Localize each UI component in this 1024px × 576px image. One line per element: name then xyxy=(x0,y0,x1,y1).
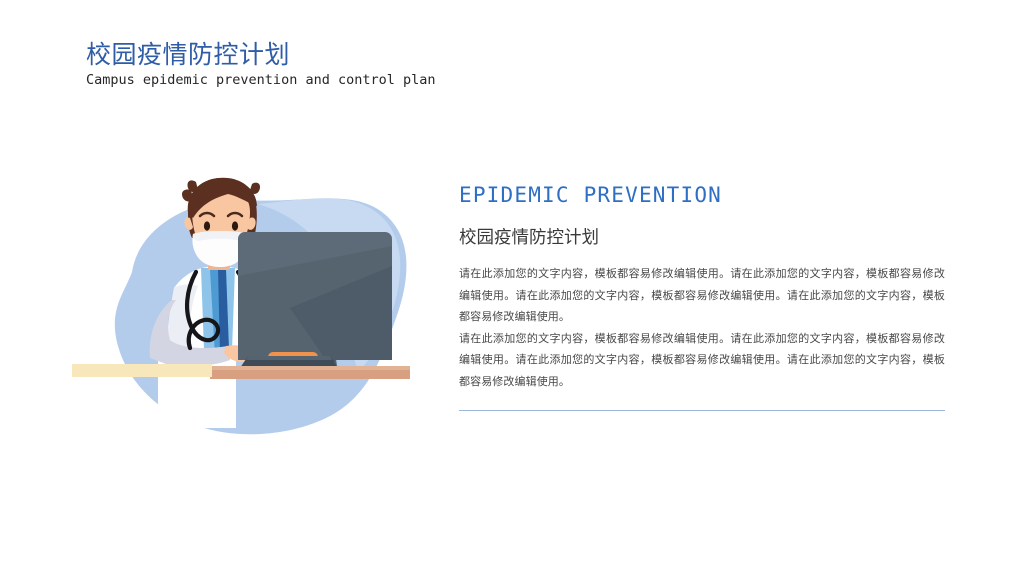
doctor-at-computer-illustration xyxy=(62,160,422,440)
desk-icon xyxy=(72,364,410,379)
eye-left-icon xyxy=(204,221,210,230)
content-heading: 校园疫情防控计划 xyxy=(459,226,945,250)
body-paragraph: 请在此添加您的文字内容，模板都容易修改编辑使用。请在此添加您的文字内容，模板都容… xyxy=(459,263,945,328)
page-title: 校园疫情防控计划 xyxy=(86,40,686,70)
slide-canvas: 校园疫情防控计划 Campus epidemic prevention and … xyxy=(0,0,1024,576)
page-subtitle: Campus epidemic prevention and control p… xyxy=(86,71,686,89)
content-block: EPIDEMIC PREVENTION 校园疫情防控计划 请在此添加您的文字内容… xyxy=(459,182,945,411)
content-divider xyxy=(459,410,945,411)
eye-right-icon xyxy=(232,221,238,230)
content-body: 请在此添加您的文字内容，模板都容易修改编辑使用。请在此添加您的文字内容，模板都容… xyxy=(459,263,945,392)
content-eyebrow: EPIDEMIC PREVENTION xyxy=(459,182,945,208)
body-paragraph: 请在此添加您的文字内容，模板都容易修改编辑使用。请在此添加您的文字内容，模板都容… xyxy=(459,328,945,393)
slide-header: 校园疫情防控计划 Campus epidemic prevention and … xyxy=(86,40,686,89)
